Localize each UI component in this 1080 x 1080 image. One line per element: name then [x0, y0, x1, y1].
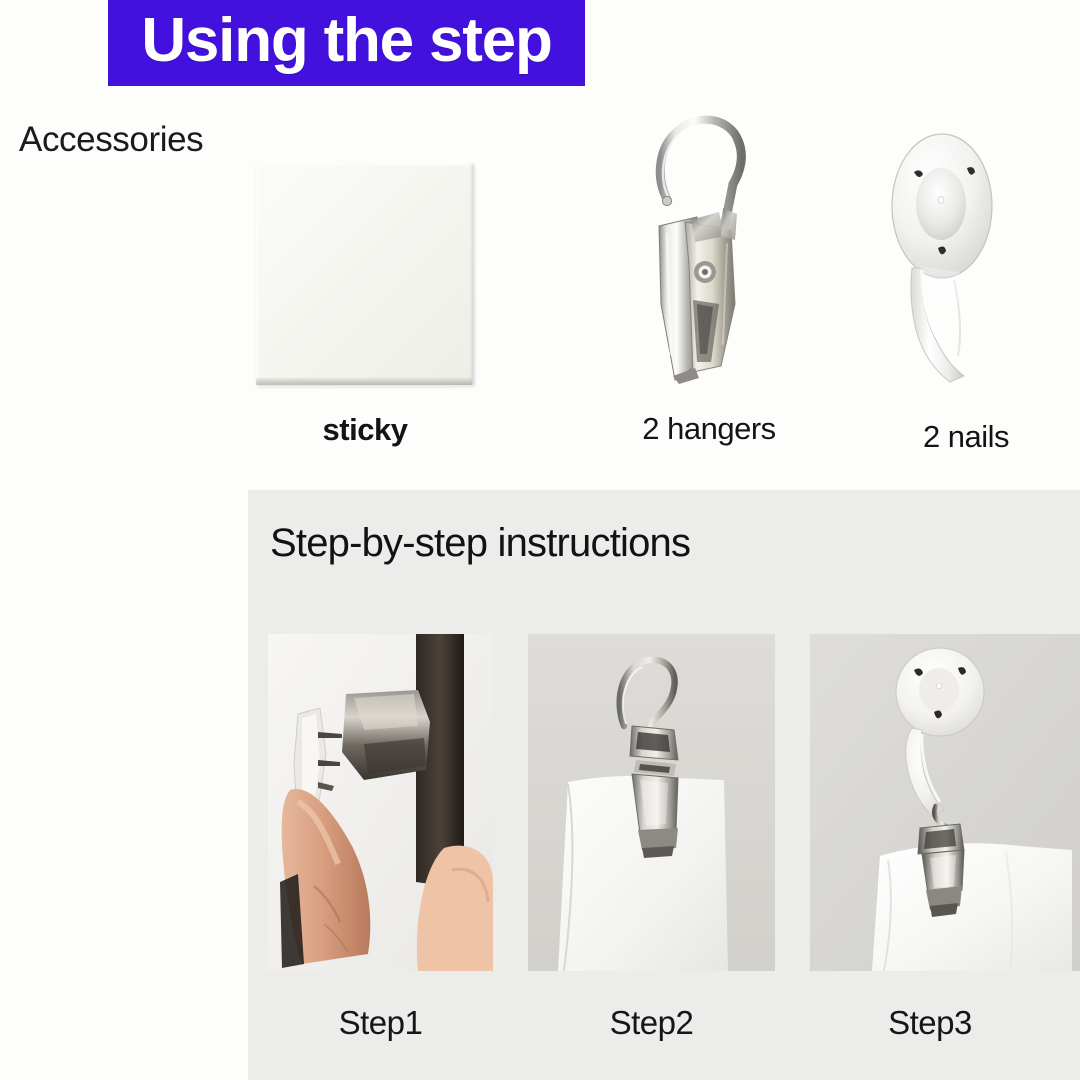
step-caption-1: Step1 — [268, 1004, 493, 1042]
step-caption-2: Step2 — [528, 1004, 775, 1042]
instructions-heading: Step-by-step instructions — [270, 521, 690, 566]
product-instruction-infographic: Using the step Accessories — [0, 0, 1080, 1080]
wall-hook-nail-image — [884, 130, 1004, 388]
hanger-clip-image — [645, 104, 771, 386]
step-photo-3 — [810, 634, 1080, 971]
sticky-pad-image — [256, 163, 474, 385]
step-photo-1 — [268, 634, 493, 971]
step-photo-2 — [528, 634, 775, 971]
accessory-caption-hangers: 2 hangers — [600, 411, 818, 447]
accessories-section-label: Accessories — [19, 120, 203, 160]
step-caption-3: Step3 — [810, 1004, 1050, 1042]
accessory-caption-sticky: sticky — [256, 412, 474, 448]
accessory-caption-nails: 2 nails — [866, 419, 1066, 455]
page-title: Using the step — [108, 0, 585, 84]
